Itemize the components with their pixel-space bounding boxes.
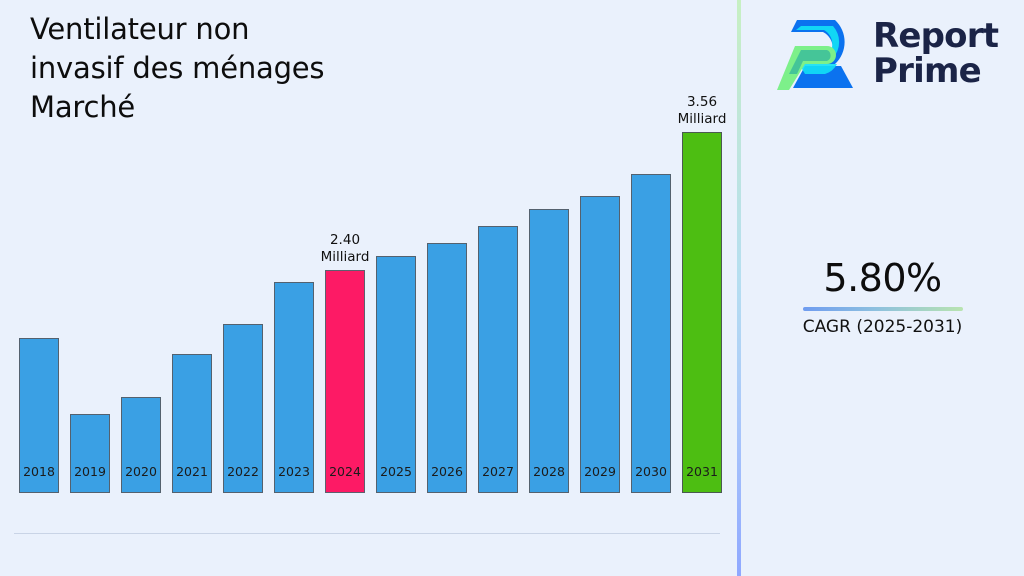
bar-group-2031: 3.56 Milliard2031: [682, 0, 722, 493]
market-chart-infographic: Ventilateur non invasif des ménages Marc…: [0, 0, 1024, 576]
brand-logo: Report Prime: [775, 12, 1020, 96]
brand-name: Report Prime: [873, 19, 998, 89]
bar-chart-plot-area: 2018201920202021202220232.40 Milliard202…: [0, 0, 738, 535]
cagr-block: 5.80% CAGR (2025-2031): [741, 255, 1024, 338]
bar-group-2025: 2025: [376, 0, 416, 493]
x-axis-tick-2031: 2031: [686, 464, 718, 479]
x-axis-tick-2027: 2027: [482, 464, 514, 479]
cagr-divider-rule: [803, 307, 963, 311]
bar-value-label-2031: 3.56 Milliard: [678, 94, 727, 128]
x-axis-tick-2023: 2023: [278, 464, 310, 479]
bar-2031[interactable]: [682, 132, 722, 493]
bar-2030[interactable]: [631, 174, 671, 493]
bar-group-2019: 2019: [70, 0, 110, 493]
bar-2028[interactable]: [529, 209, 569, 493]
report-prime-logo-icon: [775, 14, 863, 94]
bar-group-2023: 2023: [274, 0, 314, 493]
bar-group-2030: 2030: [631, 0, 671, 493]
bar-group-2027: 2027: [478, 0, 518, 493]
bar-2026[interactable]: [427, 243, 467, 493]
bar-value-label-2024: 2.40 Milliard: [321, 232, 370, 266]
x-axis-tick-2022: 2022: [227, 464, 259, 479]
x-axis-tick-2018: 2018: [23, 464, 55, 479]
x-axis-tick-2019: 2019: [74, 464, 106, 479]
x-axis-tick-2029: 2029: [584, 464, 616, 479]
chart-panel: Ventilateur non invasif des ménages Marc…: [0, 0, 738, 576]
x-axis-tick-2021: 2021: [176, 464, 208, 479]
x-axis-tick-2024: 2024: [329, 464, 361, 479]
bar-2019[interactable]: [70, 414, 110, 493]
bar-group-2028: 2028: [529, 0, 569, 493]
x-axis-tick-2026: 2026: [431, 464, 463, 479]
bar-2027[interactable]: [478, 226, 518, 493]
x-axis-tick-2025: 2025: [380, 464, 412, 479]
cagr-value: 5.80%: [741, 255, 1024, 301]
cagr-caption: CAGR (2025-2031): [741, 316, 1024, 338]
x-axis-tick-2028: 2028: [533, 464, 565, 479]
bar-group-2021: 2021: [172, 0, 212, 493]
bar-group-2024: 2.40 Milliard2024: [325, 0, 365, 493]
x-axis-tick-2020: 2020: [125, 464, 157, 479]
bar-2024[interactable]: [325, 270, 365, 493]
bar-group-2018: 2018: [19, 0, 59, 493]
x-axis-tick-2030: 2030: [635, 464, 667, 479]
x-axis-line: [14, 533, 720, 534]
brand-panel: Report Prime 5.80% CAGR (2025-2031): [741, 0, 1024, 576]
bar-group-2026: 2026: [427, 0, 467, 493]
bar-2023[interactable]: [274, 282, 314, 493]
bar-group-2020: 2020: [121, 0, 161, 493]
bar-group-2022: 2022: [223, 0, 263, 493]
bar-group-2029: 2029: [580, 0, 620, 493]
bar-2025[interactable]: [376, 256, 416, 493]
bar-2029[interactable]: [580, 196, 620, 493]
